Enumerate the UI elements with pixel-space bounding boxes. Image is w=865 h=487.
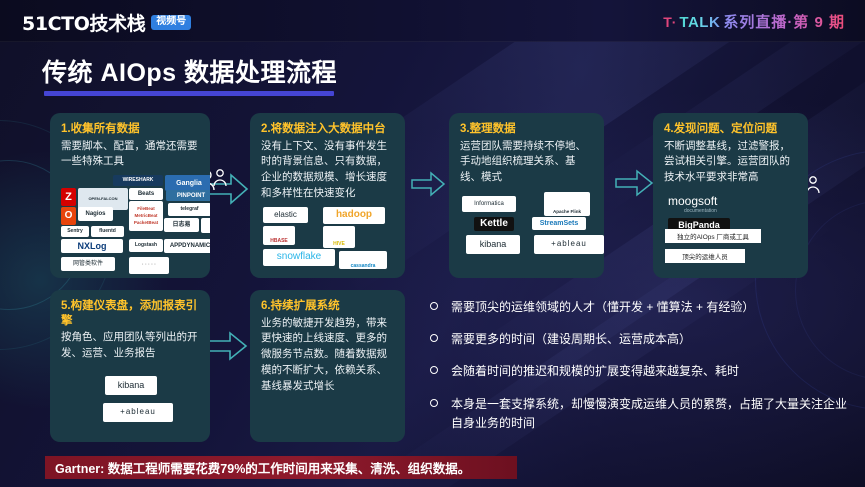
logo-tableau: +ableau xyxy=(103,403,173,422)
ttalk-banner: T· TALK 系列直播·第 9 期 xyxy=(663,11,845,32)
logo-hadoop: hadoop xyxy=(323,207,385,224)
brand-name: 51CTO技术栈 xyxy=(22,9,145,36)
logo-hbase: HBASE xyxy=(263,226,295,245)
step-1-description: 需要脚本、配置，通常还需要一些特殊工具 xyxy=(61,139,200,171)
ttalk-cn-label: 系列直播·第 9 期 xyxy=(723,11,845,32)
step-5-description: 按角色、应用团队等列出的开发、运营、业务报告 xyxy=(61,330,200,362)
logo-telegraf: telegraf xyxy=(168,203,210,216)
top-header-bar: 51CTO技术栈 视频号 T· TALK 系列直播·第 9 期 xyxy=(0,0,865,42)
step-3-title: 3.整理数据 xyxy=(460,122,594,137)
step-4-description: 不断调整基线，过滤警报，尝试相关引擎。运营团队的技术水平要求非常高 xyxy=(664,139,798,186)
logo-apache-flink: Apache Flink xyxy=(544,192,590,216)
logo-beats: Beats xyxy=(129,188,163,200)
logo-ganglia: Ganglia xyxy=(165,175,210,191)
logo-kibana: kibana xyxy=(466,235,520,254)
arrow-step2-to-step3 xyxy=(410,170,446,198)
logo-streamsets: StreamSets xyxy=(532,217,586,230)
step-2-description: 没有上下文、没有事件发生时的背景信息、只有数据，企业的数据规模、增长速度和多样性… xyxy=(261,139,395,202)
brand-badge: 视频号 xyxy=(151,15,191,30)
bullet-item: 本身是一套支撑系统，却慢慢演变成运维人员的累赘，占据了大量关注企业自身业务的时间 xyxy=(430,395,855,433)
logo-snowflake: snowflake xyxy=(263,249,335,266)
ttalk-mark: T· xyxy=(663,14,676,30)
logo-moogsoft: moogsoft xyxy=(668,194,738,208)
logo-wireshark: WIRESHARK xyxy=(113,175,163,186)
step-3-description: 运营团队需要持续不停地、手动地组织梳理关系、基线、模式 xyxy=(460,139,594,186)
arrow-step3-to-step4 xyxy=(614,168,654,198)
logo-kettle: Kettle xyxy=(474,217,514,231)
logo-misc-tool xyxy=(201,218,210,233)
slide-root: 51CTO技术栈 视频号 T· TALK 系列直播·第 9 期 传统 AIOps… xyxy=(0,0,865,487)
logo-kibana: kibana xyxy=(105,376,157,395)
title-underline xyxy=(44,91,334,96)
step-card-5[interactable]: 5.构建仪表盘，添加报表引擎 按角色、应用团队等列出的开发、运营、业务报告 ki… xyxy=(50,290,210,442)
bullet-item: 需要顶尖的运维领域的人才（懂开发 + 懂算法 + 有经验） xyxy=(430,298,855,317)
logo-opentsdb: O xyxy=(61,207,76,225)
step-4-tag-2: 顶尖的运维人员 xyxy=(665,249,745,263)
logo-nxlog: NXLog xyxy=(61,239,123,253)
step-6-title: 6.持续扩展系统 xyxy=(261,299,395,314)
bullet-dot-icon xyxy=(430,366,438,374)
logo-appdynamics: APPDYNAMICS xyxy=(164,239,210,253)
bullet-text: 需要更多的时间（建设周期长、运营成本高） xyxy=(451,330,691,349)
bullet-text: 本身是一套支撑系统，却慢慢演变成运维人员的累赘，占据了大量关注企业自身业务的时间 xyxy=(451,395,855,433)
logo-nagios: Nagios xyxy=(78,207,113,221)
step-card-4[interactable]: 4.发现问题、定位问题 不断调整基线，过滤警报，尝试相关引擎。运营团队的技术水平… xyxy=(653,113,808,278)
step-card-1[interactable]: 1.收集所有数据 需要脚本、配置，通常还需要一些特殊工具 WIRESHARK G… xyxy=(50,113,210,278)
step-card-2[interactable]: 2.将数据注入大数据中台 没有上下文、没有事件发生时的背景信息、只有数据，企业的… xyxy=(250,113,405,278)
issues-bullet-list: 需要顶尖的运维领域的人才（懂开发 + 懂算法 + 有经验） 需要更多的时间（建设… xyxy=(430,298,855,446)
ttalk-en-label: TALK xyxy=(679,14,720,31)
logo-sentry: Sentry xyxy=(61,226,89,237)
logo-elastic: elastic xyxy=(263,207,308,223)
page-title: 传统 AIOps 数据处理流程 xyxy=(42,53,337,89)
logo-hive: HIVE xyxy=(323,226,355,248)
footer-text: Gartner: 数据工程师需要花费79%的工作时间用来采集、清洗、组织数据。 xyxy=(55,458,470,477)
bullet-text: 需要顶尖的运维领域的人才（懂开发 + 懂算法 + 有经验） xyxy=(451,298,754,317)
logo-fluentd: fluentd xyxy=(91,226,124,237)
step-5-logo-collage: kibana +ableau xyxy=(61,374,200,428)
bullet-dot-icon xyxy=(430,399,438,407)
step-2-logo-collage: elastic hadoop HBASE HIVE snowflake cass… xyxy=(261,207,395,271)
bullet-item: 需要更多的时间（建设周期长、运营成本高） xyxy=(430,330,855,349)
step-6-description: 业务的敏捷开发趋势，带来更快速的上线速度、更多的微服务节点数。随着数据规模的不断… xyxy=(261,316,395,395)
bullet-text: 会随着时间的推迟和规模的扩展变得越来越复杂、耗时 xyxy=(451,362,739,381)
step-1-logo-collage: WIRESHARK Ganglia Z OPEN-FALCON Beats PI… xyxy=(61,175,200,275)
step-3-logo-collage: Informatica Apache Flink Kettle StreamSe… xyxy=(460,196,594,258)
logo-misc-box: · · · · · xyxy=(129,257,169,274)
footer-banner: Gartner: 数据工程师需要花费79%的工作时间用来采集、清洗、组织数据。 xyxy=(45,456,517,479)
step-5-title: 5.构建仪表盘，添加报表引擎 xyxy=(61,299,200,328)
step-4-title: 4.发现问题、定位问题 xyxy=(664,122,798,137)
step-4-tag-1: 独立的AIOps 厂商或工具 xyxy=(665,229,761,243)
logo-cassandra: cassandra xyxy=(339,251,387,269)
step-2-title: 2.将数据注入大数据中台 xyxy=(261,122,395,137)
logo-pinpoint: PINPOINT xyxy=(166,190,210,201)
logo-tableau: +ableau xyxy=(534,235,604,254)
logo-wangguan-ruanjian: 网管类软件 xyxy=(61,257,115,271)
bullet-dot-icon xyxy=(430,334,438,342)
logo-rizhiyi: 日志易 xyxy=(164,218,199,232)
brand-logo: 51CTO技术栈 视频号 xyxy=(22,9,191,36)
logo-informatica: Informatica xyxy=(462,196,516,212)
arrow-step5-to-step6 xyxy=(204,330,248,362)
logo-zabbix: Z xyxy=(61,188,76,206)
step-card-6[interactable]: 6.持续扩展系统 业务的敏捷开发趋势，带来更快速的上线速度、更多的微服务节点数。… xyxy=(250,290,405,442)
logo-logstash: Logstash xyxy=(129,239,163,252)
logo-filebeat-stack: FileBeat MetricBeat PacketBeat xyxy=(129,201,163,231)
bullet-dot-icon xyxy=(430,302,438,310)
step-1-title: 1.收集所有数据 xyxy=(61,122,200,137)
step-card-3[interactable]: 3.整理数据 运营团队需要持续不停地、手动地组织梳理关系、基线、模式 Infor… xyxy=(449,113,604,278)
logo-moogsoft-subtitle: documentation xyxy=(684,208,744,216)
bullet-item: 会随着时间的推迟和规模的扩展变得越来越复杂、耗时 xyxy=(430,362,855,381)
